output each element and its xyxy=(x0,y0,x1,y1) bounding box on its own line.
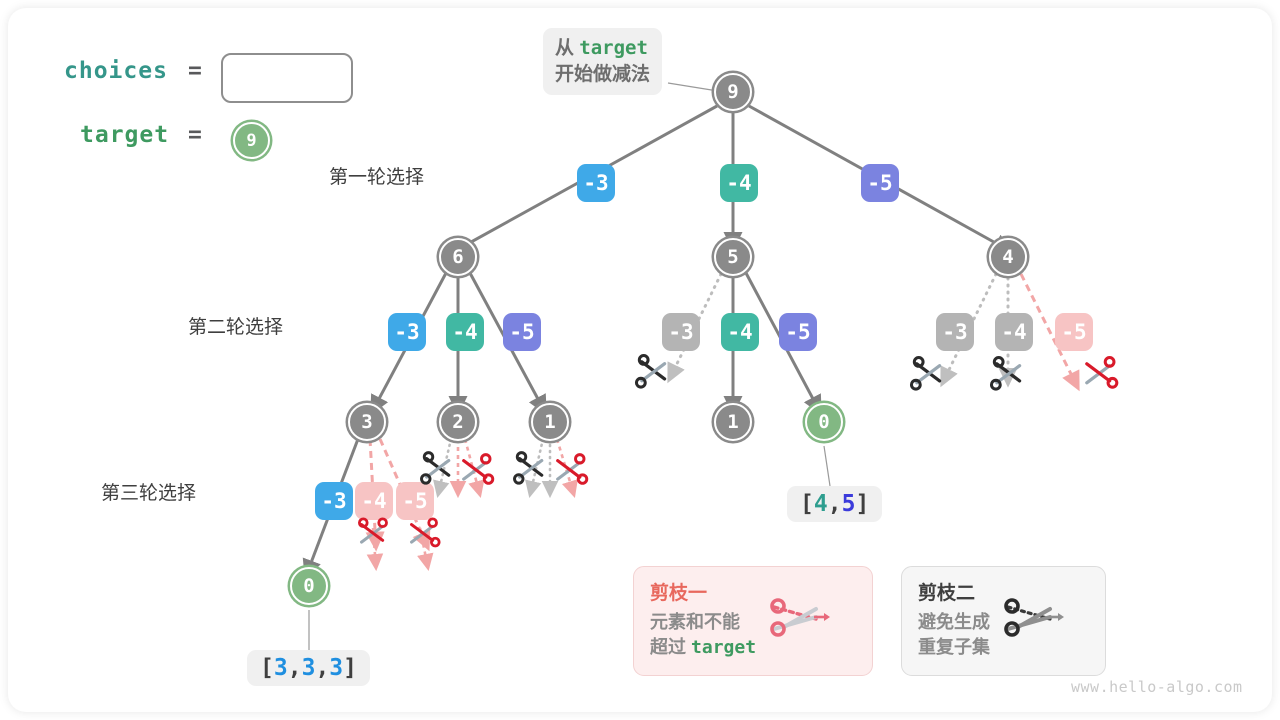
edge-chip-l1-minus4[interactable]: -4 xyxy=(720,164,758,202)
legend-pruning-two: 剪枝二 避免生成 重复子集 xyxy=(901,566,1106,676)
choices-label: choices xyxy=(64,58,168,84)
legend-line2: 超过 target xyxy=(650,635,756,661)
result-value: 3 xyxy=(302,655,316,681)
watermark: www.hello-algo.com xyxy=(1071,678,1243,696)
edge-chip-n3-minus4-pruned[interactable]: -4 xyxy=(355,482,393,520)
diagram-stage: choices = 3 4 5 target = 9 第一轮选择 第二轮选择 第… xyxy=(8,8,1272,712)
edge-chip-n3-minus3[interactable]: -3 xyxy=(315,482,353,520)
result-box-45: [4,5] xyxy=(787,486,882,522)
scissors-dark-icon xyxy=(636,356,664,388)
edge-chip-n5-minus5[interactable]: -5 xyxy=(779,313,817,351)
tree-node-5[interactable]: 5 xyxy=(714,238,752,276)
edge-chip-n4-minus3-pruned[interactable]: -3 xyxy=(936,313,974,351)
callout-line2: 开始做减法 xyxy=(555,64,650,85)
choices-array: 3 4 5 xyxy=(221,53,353,103)
legend-line1: 避免生成 xyxy=(918,610,990,636)
edge-chip-l1-minus3[interactable]: -3 xyxy=(577,164,615,202)
tree-node-root-9[interactable]: 9 xyxy=(714,73,752,111)
tree-node-2[interactable]: 2 xyxy=(439,403,477,441)
scissors-dark-icon xyxy=(911,358,939,390)
result-bracket-close: ] xyxy=(343,655,357,681)
tree-node-0-solution-left[interactable]: 0 xyxy=(290,567,328,605)
diagram-card: choices = 3 4 5 target = 9 第一轮选择 第二轮选择 第… xyxy=(8,8,1272,712)
edge-chip-n6-minus3[interactable]: -3 xyxy=(388,313,426,351)
choices-equals: = xyxy=(188,58,202,84)
scissors-dark-icon xyxy=(1004,595,1068,648)
result-box-333: [3,3,3] xyxy=(247,650,370,686)
result-value: 5 xyxy=(842,491,856,517)
scissors-red-icon xyxy=(464,455,493,484)
scissors-red-icon xyxy=(1087,358,1117,388)
edge-chip-n5-minus3-pruned[interactable]: -3 xyxy=(662,313,700,351)
target-value-node: 9 xyxy=(233,122,270,159)
tree-node-6[interactable]: 6 xyxy=(439,238,477,276)
scissors-dark-icon xyxy=(515,453,542,484)
callout-line1-prefix: 从 xyxy=(555,38,579,59)
edge-chip-n4-minus4-pruned[interactable]: -4 xyxy=(995,313,1033,351)
edge-chip-n3-minus5-pruned[interactable]: -5 xyxy=(396,482,434,520)
edge-chip-n6-minus5[interactable]: -5 xyxy=(503,313,541,351)
scissors-dark-icon xyxy=(991,358,1019,390)
choice-chip-1[interactable]: 4 xyxy=(268,59,306,97)
tree-node-1-mid[interactable]: 1 xyxy=(714,403,752,441)
legend-line2: 重复子集 xyxy=(918,635,990,661)
result-comma: , xyxy=(828,491,842,517)
legend-title: 剪枝一 xyxy=(650,581,756,608)
edge-chip-n5-minus4[interactable]: -4 xyxy=(721,313,759,351)
scissors-red-icon xyxy=(558,455,587,484)
scissors-red-icon xyxy=(412,519,440,546)
edge-chip-l1-minus5[interactable]: -5 xyxy=(861,164,899,202)
choice-chip-0[interactable]: 3 xyxy=(227,59,265,97)
result-value: 3 xyxy=(274,655,288,681)
round-label-2: 第二轮选择 xyxy=(188,312,283,339)
legend-line2-code: target xyxy=(691,637,756,658)
scissors-dark-icon xyxy=(422,453,449,484)
legend-line1: 元素和不能 xyxy=(650,610,756,636)
result-bracket-close: ] xyxy=(855,491,869,517)
legend-pruning-one: 剪枝一 元素和不能 超过 target xyxy=(633,566,873,676)
target-label: target xyxy=(80,122,169,148)
round-label-1: 第一轮选择 xyxy=(329,162,424,189)
target-equals: = xyxy=(188,122,202,148)
result-value: 4 xyxy=(814,491,828,517)
callout-from-target: 从 target 开始做减法 xyxy=(543,28,662,95)
choice-chip-2[interactable]: 5 xyxy=(309,59,347,97)
tree-node-1-left[interactable]: 1 xyxy=(531,403,569,441)
edge-chip-n4-minus5-pruned[interactable]: -5 xyxy=(1055,313,1093,351)
tree-node-3[interactable]: 3 xyxy=(348,403,386,441)
result-bracket-open: [ xyxy=(800,491,814,517)
legend-line2-prefix: 重复子集 xyxy=(918,637,990,657)
round-label-3: 第三轮选择 xyxy=(101,478,196,505)
tree-node-0-solution-mid[interactable]: 0 xyxy=(805,403,843,441)
scissors-red-icon xyxy=(359,519,386,542)
edge-chip-n6-minus4[interactable]: -4 xyxy=(446,313,484,351)
result-comma: , xyxy=(315,655,329,681)
callout-line1-code: target xyxy=(579,37,648,59)
result-value: 3 xyxy=(329,655,343,681)
legend-line2-prefix: 超过 xyxy=(650,637,691,657)
legend-title: 剪枝二 xyxy=(918,581,990,608)
result-comma: , xyxy=(288,655,302,681)
scissors-red-icon xyxy=(770,595,834,648)
result-bracket-open: [ xyxy=(260,655,274,681)
tree-node-4[interactable]: 4 xyxy=(989,238,1027,276)
